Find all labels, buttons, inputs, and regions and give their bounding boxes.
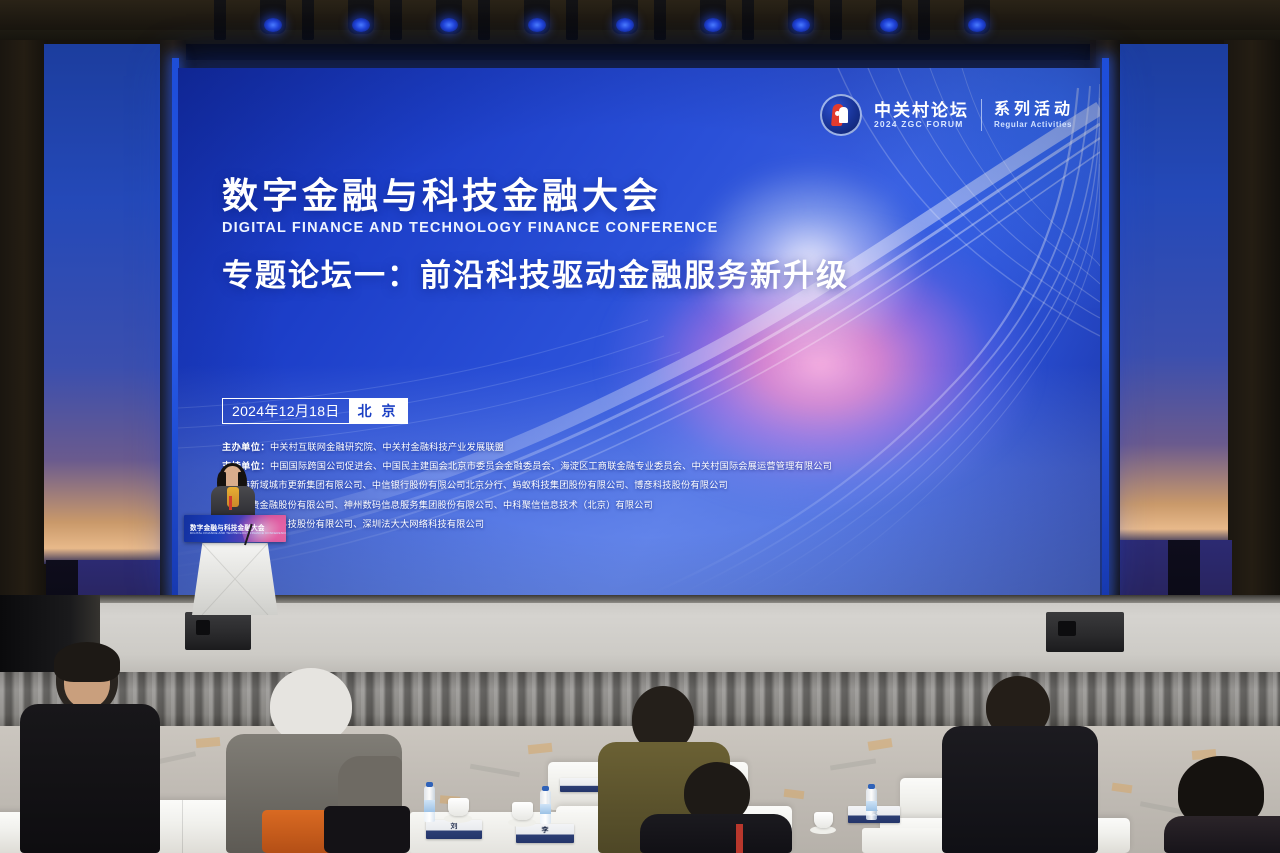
stage-light-glow	[440, 18, 458, 32]
event-date: 2024年12月18日	[223, 399, 349, 423]
teacup	[512, 802, 533, 820]
stage-light	[964, 0, 990, 34]
truss-arm	[390, 0, 402, 40]
sponsor-line: 北京海新域城市更新集团有限公司、中信银行股份有限公司北京分行、蚂蚁科技集团股份有…	[222, 481, 1052, 490]
logo-series-cn: 系列活动	[994, 102, 1074, 118]
truss-arm	[830, 0, 842, 40]
podium-banner: 数字金融与科技金融大会 DIGITAL FINANCE AND TECHNOLO…	[184, 515, 286, 542]
wall-panel-left-lit	[44, 44, 164, 564]
wall-column-left-outer	[0, 40, 48, 670]
water-bottle	[424, 786, 435, 822]
ceiling-shadow-band	[0, 44, 1280, 60]
truss-arm	[302, 0, 314, 40]
speaker-person	[203, 466, 263, 522]
stage-light-glow	[792, 18, 810, 32]
stage-light-glow	[528, 18, 546, 32]
stage-light-glow	[352, 18, 370, 32]
logo-en-name: 2024 ZGC FORUM	[874, 120, 969, 129]
forum-subtitle-cn: 专题论坛一：前沿科技驱动金融服务新升级	[222, 258, 849, 294]
sponsor-line: 支持单位：中国国际跨国公司促进会、中国民主建国会北京市委员会金融委员会、海淀区工…	[222, 462, 1052, 471]
sponsor-line: 上海合合信息科技股份有限公司、深圳法大大网络科技有限公司	[222, 520, 1052, 529]
event-city: 北 京	[349, 399, 408, 423]
stage-light	[612, 0, 638, 34]
stage-light-glow	[968, 18, 986, 32]
stage-monitor-right	[1046, 612, 1124, 652]
stage-monitor-left	[185, 612, 251, 650]
stage-light	[700, 0, 726, 34]
blue-light-strip-right	[1102, 58, 1109, 618]
conference-title-en: DIGITAL FINANCE AND TECHNOLOGY FINANCE C…	[222, 220, 849, 236]
stage-light-glow	[616, 18, 634, 32]
truss-arm	[654, 0, 666, 40]
stage-light	[524, 0, 550, 34]
stage-light-glow	[880, 18, 898, 32]
podium-banner-subtitle: DIGITAL FINANCE AND TECHNOLOGY FINANCE C…	[190, 531, 286, 535]
truss-arm	[566, 0, 578, 40]
date-location-badge: 2024年12月18日 北 京	[222, 398, 408, 424]
stage-light-glow	[264, 18, 282, 32]
conference-title-cn: 数字金融与科技金融大会	[222, 176, 849, 216]
podium-cross-detail	[192, 543, 278, 615]
logo-series-block: 系列活动 Regular Activities	[994, 102, 1074, 129]
sponsor-label: 主办单位：	[222, 442, 270, 452]
logo-cn-name: 中关村论坛	[874, 102, 969, 119]
truss-arm	[214, 0, 226, 40]
emblem-inner-mark	[831, 104, 851, 126]
logo-divider	[981, 99, 982, 131]
teacup	[448, 798, 469, 816]
sponsor-names: 北京海新域城市更新集团有限公司、中信银行股份有限公司北京分行、蚂蚁科技集团股份有…	[222, 480, 728, 490]
water-bottle	[540, 790, 551, 824]
stage-light	[876, 0, 902, 34]
sponsor-line: 主办单位：中关村互联网金融研究院、中关村金融科技产业发展联盟	[222, 443, 1052, 452]
audience-person-2	[218, 668, 408, 853]
stage-light-glow	[704, 18, 722, 32]
audience-person-5	[942, 676, 1098, 853]
conference-stage-scene: 中关村论坛 2024 ZGC FORUM 系列活动 Regular Activi…	[0, 0, 1280, 853]
sponsor-names: 中关村互联网金融研究院、中关村金融科技产业发展联盟	[270, 442, 504, 452]
sponsor-names: 中国国际跨国公司促进会、中国民主建国会北京市委员会金融委员会、海淀区工商联金融专…	[270, 461, 832, 471]
stage-light	[348, 0, 374, 34]
stage-light	[260, 0, 286, 34]
wall-panel-right-lit	[1116, 44, 1228, 544]
led-screen: 中关村论坛 2024 ZGC FORUM 系列活动 Regular Activi…	[178, 68, 1100, 595]
truss-arm	[742, 0, 754, 40]
teacup	[814, 812, 833, 828]
sponsor-names: 马上消费金融股份有限公司、神州数码信息服务集团股份有限公司、中科聚信信息技术（北…	[222, 500, 653, 510]
logo-name-block: 中关村论坛 2024 ZGC FORUM	[874, 102, 969, 129]
zgc-forum-emblem-icon	[820, 94, 862, 136]
stage-light	[788, 0, 814, 34]
ceiling	[0, 0, 1280, 58]
stage-light	[436, 0, 462, 34]
sponsor-line: 马上消费金融股份有限公司、神州数码信息服务集团股份有限公司、中科聚信信息技术（北…	[222, 501, 1052, 510]
water-bottle	[866, 788, 877, 820]
sponsor-list: 主办单位：中关村互联网金融研究院、中关村金融科技产业发展联盟支持单位：中国国际跨…	[222, 443, 1052, 539]
wall-column-right-outer	[1224, 40, 1280, 680]
audience-person-4	[640, 762, 792, 853]
zgc-forum-logo: 中关村论坛 2024 ZGC FORUM 系列活动 Regular Activi…	[820, 94, 1074, 136]
screen-title-block: 数字金融与科技金融大会 DIGITAL FINANCE AND TECHNOLO…	[222, 176, 849, 294]
audience-person-6	[1168, 756, 1280, 853]
logo-series-en: Regular Activities	[994, 121, 1074, 129]
truss-arm	[918, 0, 930, 40]
audience-person-1	[26, 644, 150, 853]
speaker-lanyard	[229, 496, 232, 510]
podium: 数字金融与科技金融大会 DIGITAL FINANCE AND TECHNOLO…	[184, 515, 286, 615]
truss-arm	[478, 0, 490, 40]
